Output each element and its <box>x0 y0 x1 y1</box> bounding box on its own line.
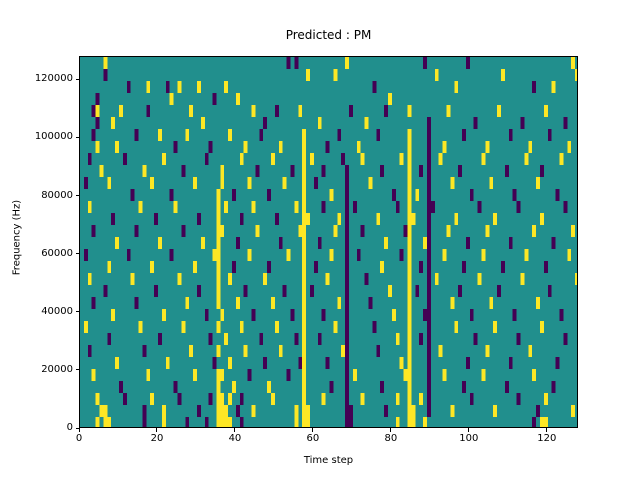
page-title: Predicted : PM <box>79 28 578 42</box>
x-tick-mark <box>156 428 157 432</box>
y-tick-label: 100000 <box>35 131 73 143</box>
x-tick-label: 120 <box>527 433 567 445</box>
x-tick-mark <box>234 428 235 432</box>
y-tick-label: 20000 <box>41 364 73 376</box>
x-tick-label: 40 <box>215 433 255 445</box>
y-tick-label: 120000 <box>35 73 73 85</box>
y-tick-label: 80000 <box>41 190 73 202</box>
x-tick-label: 20 <box>137 433 177 445</box>
x-tick-label: 80 <box>371 433 411 445</box>
x-axis-label: Time step <box>79 455 578 466</box>
x-tick-label: 0 <box>59 433 99 445</box>
x-tick-mark <box>79 428 80 432</box>
x-tick-mark <box>468 428 469 432</box>
y-tick-label: 40000 <box>41 306 73 318</box>
heatmap-image <box>80 57 578 428</box>
x-tick-mark <box>390 428 391 432</box>
heatmap-plot-area[interactable] <box>79 56 578 428</box>
matplotlib-figure: Predicted : PM Frequency (Hz) 0200004000… <box>0 0 640 480</box>
x-tick-label: 100 <box>449 433 489 445</box>
x-tick-label: 60 <box>293 433 333 445</box>
x-tick-mark <box>312 428 313 432</box>
y-axis-label: Frequency (Hz) <box>12 88 23 388</box>
x-tick-mark <box>546 428 547 432</box>
y-tick-label: 60000 <box>41 248 73 260</box>
